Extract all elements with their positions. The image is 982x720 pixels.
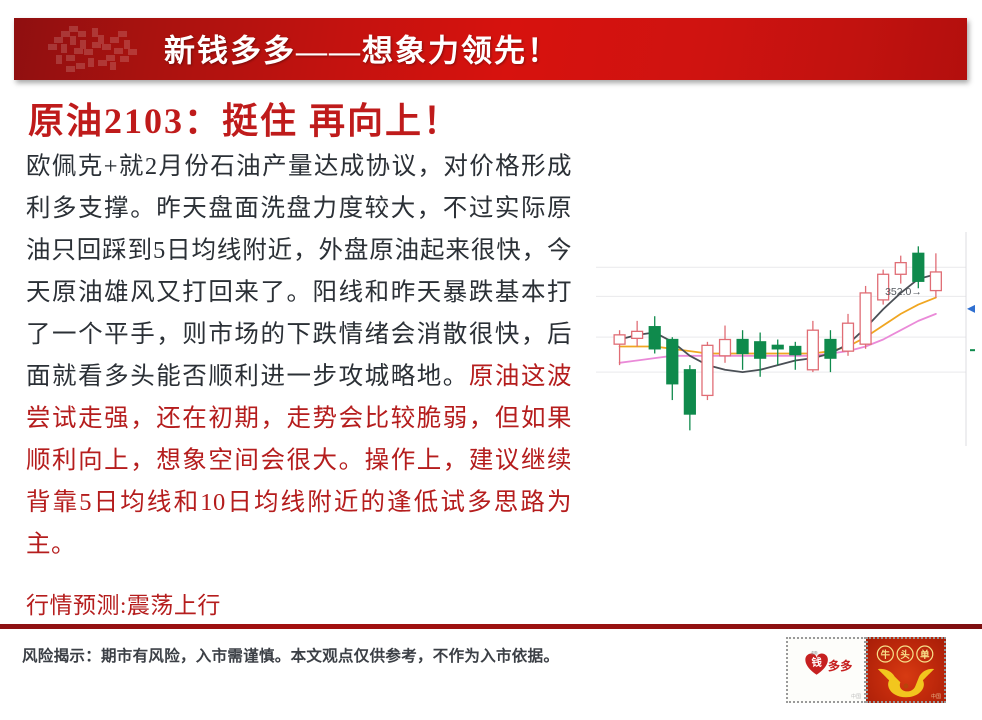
stamp-corner-label: 中国	[851, 693, 861, 700]
candlestick	[667, 337, 678, 400]
candle-body	[667, 340, 678, 384]
price-annotation: 352.0→	[885, 286, 922, 298]
candle-body	[684, 370, 695, 414]
candlestick	[649, 316, 660, 353]
price-pointer-triangle	[967, 305, 975, 313]
price-tick-marker	[970, 349, 975, 351]
stamp-corner-label: 中国	[931, 693, 941, 700]
svg-text:牛: 牛	[881, 649, 891, 661]
page-title: 原油2103：挺住 再向上！	[28, 92, 461, 144]
candlestick	[684, 365, 695, 430]
candlestick-chart: 352.0→	[596, 228, 976, 452]
candlestick	[737, 330, 748, 370]
candlestick	[930, 253, 941, 297]
candle-body	[790, 346, 801, 354]
candle-body	[720, 340, 731, 356]
candle-body	[772, 345, 783, 348]
candlestick	[702, 342, 713, 400]
candlestick	[614, 330, 625, 365]
stamp-mark-char: 钱	[811, 656, 822, 669]
niutoudan-stamp: 牛 头 单 中国	[866, 637, 946, 703]
candle-body	[843, 323, 854, 351]
candle-body	[737, 340, 748, 354]
article-body: 欧佩克+就2月份石油产量达成协议，对价格形成利多支撑。昨天盘面洗盘力度较大，不过…	[26, 146, 572, 566]
candle-body	[895, 263, 906, 275]
article-paragraph-dark: 欧佩克+就2月份石油产量达成协议，对价格形成利多支撑。昨天盘面洗盘力度较大，不过…	[26, 153, 572, 390]
qianduoduo-stamp: 钱 多多 金融 中国	[786, 637, 866, 703]
header-banner: 新钱多多——想象力领先！	[14, 18, 967, 80]
candle-body	[755, 342, 766, 358]
risk-disclaimer: 风险揭示：期市有风险，入市需谨慎。本文观点仅供参考，不作为入市依据。	[22, 644, 559, 666]
candle-body	[632, 331, 643, 338]
candle-body	[860, 293, 871, 344]
candlestick	[860, 286, 871, 349]
candle-body	[649, 327, 660, 349]
svg-text:单: 单	[920, 649, 930, 661]
brand-stamps: 钱 多多 金融 中国 牛 头 单 中国	[786, 637, 946, 703]
candle-body	[825, 340, 836, 359]
candlestick	[843, 314, 854, 356]
header-title: 新钱多多——想象力领先！	[164, 26, 560, 71]
svg-text:金融: 金融	[811, 650, 818, 655]
niutoudan-stamp-art: 牛 头 单	[868, 639, 944, 701]
candlestick	[720, 326, 731, 363]
svg-text:头: 头	[900, 649, 910, 661]
article-paragraph-highlight: 原油这波尝试走强，还在初期，走势会比较脆弱，但如果顺利向上，想象空间会很大。操作…	[26, 363, 572, 558]
footer-divider	[0, 624, 982, 629]
stamp-text: 多多	[828, 658, 852, 673]
bull-head-icon	[878, 669, 934, 697]
forecast-line: 行情预测:震荡上行	[26, 586, 221, 620]
candlestick	[772, 340, 783, 366]
candlestick	[825, 330, 836, 372]
candle-body	[930, 272, 941, 291]
candlestick	[895, 256, 906, 284]
candlestick	[807, 321, 818, 372]
slide-page: 新钱多多——想象力领先！ 原油2103：挺住 再向上！ 欧佩克+就2月份石油产量…	[0, 0, 982, 720]
chinese-knot-icon	[40, 22, 160, 78]
candle-body	[614, 335, 625, 344]
candle-body	[702, 345, 713, 395]
candlestick	[632, 321, 643, 347]
chart-canvas: 352.0→	[596, 228, 976, 452]
qianduoduo-stamp-art: 钱 多多 金融	[788, 639, 864, 701]
candle-body	[913, 253, 924, 281]
candle-body	[807, 330, 818, 370]
